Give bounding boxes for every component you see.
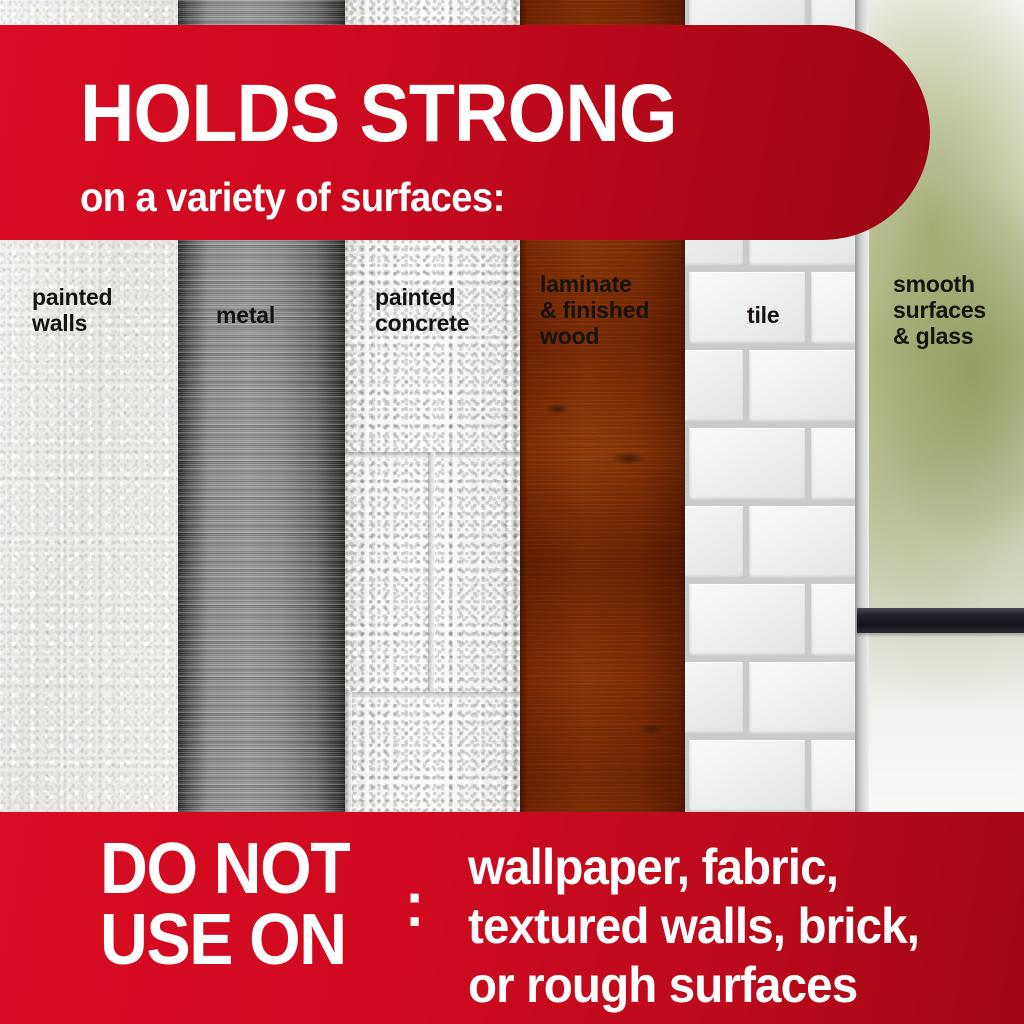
surface-label-laminate-wood: laminate & finished wood: [540, 272, 685, 349]
surface-label-painted-concrete: painted concrete: [375, 285, 520, 337]
wood-knot: [546, 404, 568, 414]
surface-label-metal: metal: [216, 303, 345, 329]
do-not-use-items: wallpaper, fabric, textured walls, brick…: [468, 838, 919, 1015]
surface-label-smooth-glass: smooth surfaces & glass: [893, 272, 1024, 349]
mortar-joint-horizontal: [345, 692, 520, 699]
mortar-joint-vertical: [428, 452, 435, 692]
do-not-use-band: DO NOT USE ON : wallpaper, fabric, textu…: [0, 812, 1024, 1024]
banner-headline: HOLDS STRONG: [80, 77, 677, 151]
do-not-use-colon: :: [405, 872, 424, 936]
window-frame-horizontal: [857, 608, 1024, 633]
banner-subheadline: on a variety of surfaces:: [80, 177, 505, 218]
surface-label-tile: tile: [747, 303, 855, 329]
wood-knot: [612, 452, 646, 465]
wood-knot: [638, 724, 664, 735]
holds-strong-banner: HOLDS STRONG on a variety of surfaces:: [0, 25, 930, 240]
product-feature-graphic: painted walls metal painted concrete lam…: [0, 0, 1024, 1024]
surface-label-painted-walls: painted walls: [32, 285, 178, 337]
do-not-use-heading: DO NOT USE ON: [100, 834, 349, 975]
